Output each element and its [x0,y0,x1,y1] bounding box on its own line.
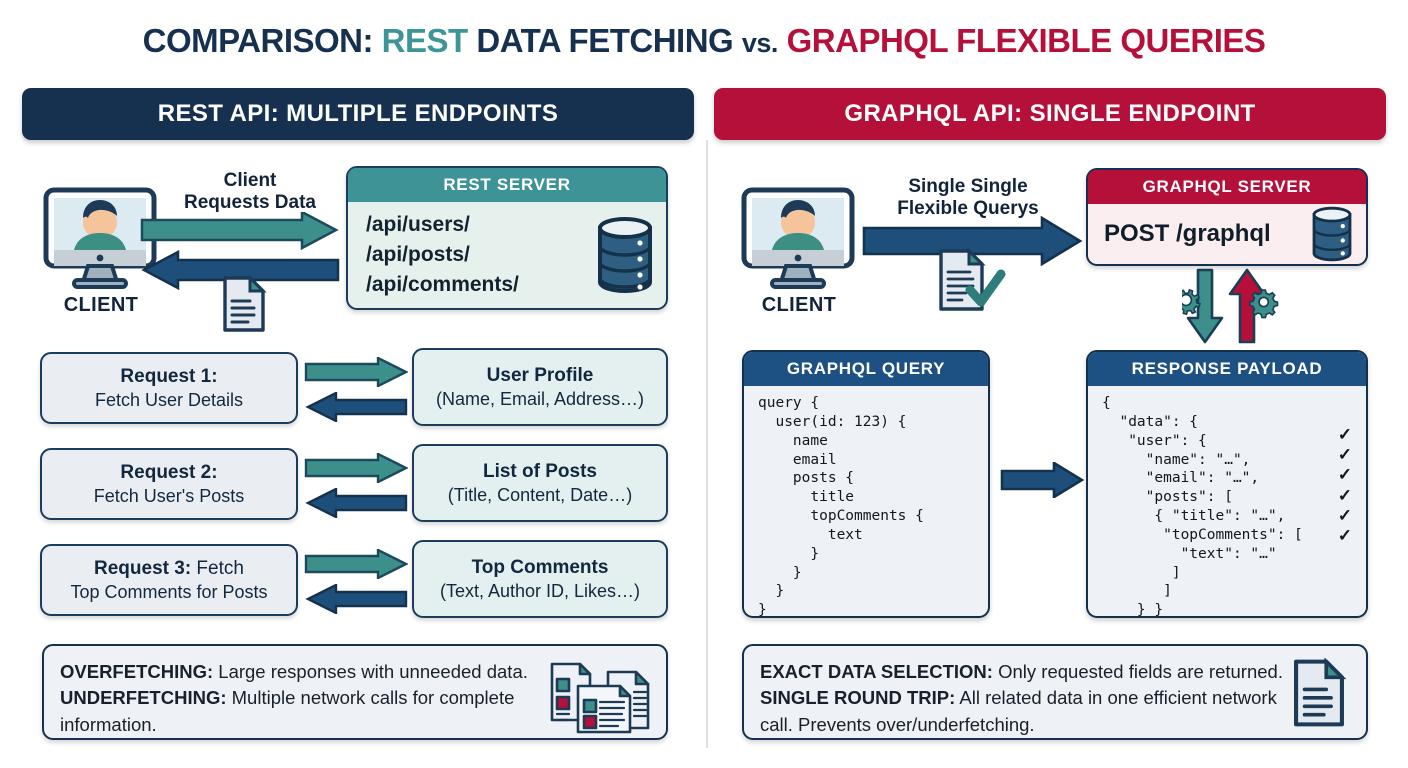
graphql-flow-caption-line1: Single Single [878,176,1058,198]
graphql-endpoint: POST /graphql [1104,220,1271,248]
rest-database-icon [596,216,654,294]
graphql-query-panel: GRAPHQL QUERY query { user(id: 123) { na… [742,350,990,618]
rest-row1-in-arrow [304,392,408,422]
rest-client-label: CLIENT [38,294,164,317]
rest-request-box-1[interactable]: Request 1: Fetch User Details [40,352,298,424]
graphql-query-title-label: GRAPHQL QUERY [787,359,945,379]
rest-request-1-line1: Request 1: [120,365,217,389]
overfetching-label: OVERFETCHING: [60,661,213,682]
rest-endpoint-list: /api/users/ /api/posts/ /api/comments/ [366,210,519,299]
document-check-icon [936,248,1006,314]
monitor-user-icon [736,186,862,290]
check-2: ✓ [1338,466,1352,483]
rest-request-box-2[interactable]: Request 2: Fetch User's Posts [40,448,298,520]
document-icon [1290,658,1348,728]
graphql-section-header: GRAPHQL API: SINGLE ENDPOINT [714,88,1386,140]
rest-server-title: REST SERVER [348,168,666,202]
rest-document-icon [220,275,268,333]
rest-request-3-rest: Fetch [191,558,244,579]
rest-response-3-detail: (Text, Author ID, Likes…) [440,580,640,603]
graphql-server-title: GRAPHQL SERVER [1088,170,1366,204]
rest-flow-caption-line2: Requests Data [165,192,335,214]
rest-response-2-detail: (Title, Content, Date…) [448,484,632,507]
rest-server-panel: REST SERVER /api/users/ /api/posts/ /api… [346,166,668,310]
title-rest: REST [382,22,468,59]
graphql-server-exchange [1182,266,1294,346]
column-divider [706,140,708,748]
rest-request-3-line1: Request 3: Fetch [94,557,244,581]
title-graphql: GRAPHQL FLEXIBLE QUERIES [778,22,1265,59]
response-checkmarks: ✓ ✓ ✓ ✓ ✓ ✓ [1338,426,1352,544]
rest-flow-caption-line1: Client [165,170,335,192]
exact-data-selection-label: EXACT DATA SELECTION: [760,661,993,682]
rest-request-1-line2: Fetch User Details [95,389,243,412]
rest-drawbacks-note: OVERFETCHING: Large responses with unnee… [42,644,668,740]
rest-server-title-label: REST SERVER [443,175,570,195]
rest-row3-out-arrow [304,549,408,579]
underfetching-label: UNDERFETCHING: [60,687,227,708]
graphql-flow-arrow [1000,462,1084,498]
rest-response-box-3[interactable]: Top Comments (Text, Author ID, Likes…) [412,540,668,618]
check-1: ✓ [1338,446,1352,463]
rest-response-box-1[interactable]: User Profile (Name, Email, Address…) [412,348,668,426]
graphql-query-title: GRAPHQL QUERY [744,352,988,386]
rest-row2-out-arrow [304,453,408,483]
exact-data-selection-text: Only requested fields are returned. [993,661,1283,682]
check-0: ✓ [1338,426,1352,443]
gear-icon [1250,290,1278,318]
check-5: ✓ [1338,527,1352,544]
infographic-root: COMPARISON: REST DATA FETCHING vs. GRAPH… [0,0,1408,768]
graphql-response-code: { "data": { "user": { "name": "…", "emai… [1088,386,1366,618]
rest-response-box-2[interactable]: List of Posts (Title, Content, Date…) [412,444,668,522]
rest-row2-in-arrow [304,488,408,518]
graphql-query-code: query { user(id: 123) { name email posts… [744,386,988,618]
graphql-server-panel: GRAPHQL SERVER POST /graphql [1086,168,1368,266]
graphql-client-label: CLIENT [736,294,862,317]
graphql-benefits-note: EXACT DATA SELECTION: Only requested fie… [742,644,1368,740]
rest-response-1-title: User Profile [487,364,594,388]
rest-response-2-title: List of Posts [483,460,597,484]
single-round-trip-label: SINGLE ROUND TRIP: [760,687,955,708]
title-vs: vs. [742,28,778,58]
check-3: ✓ [1338,487,1352,504]
rest-request-2-line1: Request 2: [120,461,217,485]
rest-flow-caption: Client Requests Data [165,170,335,214]
stacked-documents-icon [548,660,652,734]
graphql-client: CLIENT [736,186,862,317]
rest-request-2-line2: Fetch User's Posts [94,485,244,508]
graphql-section-header-label: GRAPHQL API: SINGLE ENDPOINT [844,100,1255,128]
graphql-server-title-label: GRAPHQL SERVER [1143,177,1312,197]
check-4: ✓ [1338,507,1352,524]
rest-request-box-3[interactable]: Request 3: Fetch Top Comments for Posts [40,544,298,616]
graphql-response-title: RESPONSE PAYLOAD [1088,352,1366,386]
rest-request-1-strong: Request 1: [120,366,217,387]
graphql-response-panel: RESPONSE PAYLOAD { "data": { "user": { "… [1086,350,1368,618]
rest-section-header: REST API: MULTIPLE ENDPOINTS [22,88,694,140]
graphql-database-icon [1310,206,1354,262]
rest-response-3-title: Top Comments [472,556,609,580]
rest-endpoint-1: /api/posts/ [366,240,519,270]
graphql-flow-caption: Single Single Flexible Querys [878,176,1058,220]
rest-row3-in-arrow [304,584,408,614]
rest-endpoint-2: /api/comments/ [366,270,519,300]
page-title: COMPARISON: REST DATA FETCHING vs. GRAPH… [0,22,1408,60]
rest-section-header-label: REST API: MULTIPLE ENDPOINTS [158,100,559,128]
rest-request-3-line2: Top Comments for Posts [70,581,267,604]
title-part2: DATA FETCHING [468,22,742,59]
rest-request-2-strong: Request 2: [120,462,217,483]
rest-endpoint-0: /api/users/ [366,210,519,240]
rest-request-3-strong: Request 3: [94,558,191,579]
overfetching-text: Large responses with unneeded data. [213,661,528,682]
rest-response-1-detail: (Name, Email, Address…) [436,388,644,411]
rest-row1-out-arrow [304,357,408,387]
title-part1: COMPARISON: [143,22,382,59]
graphql-response-title-label: RESPONSE PAYLOAD [1132,359,1323,379]
